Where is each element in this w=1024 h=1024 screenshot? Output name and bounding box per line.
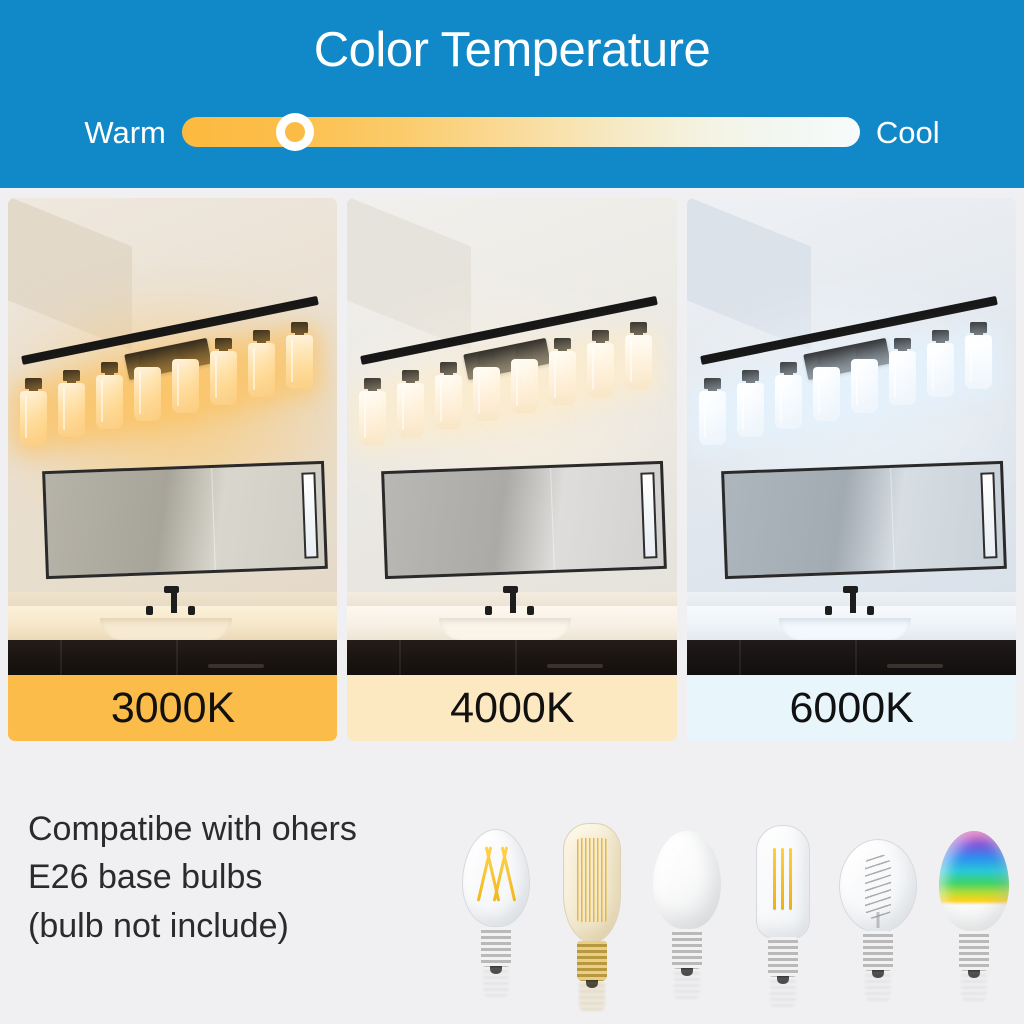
a19-clear-filament-bulb-icon	[452, 783, 540, 1013]
slider-knob-handle[interactable]	[276, 113, 314, 151]
bathroom-scene-photo-warm	[8, 198, 337, 675]
framed-mirror	[381, 461, 667, 579]
compat-line-3: (bulb not include)	[28, 902, 448, 950]
undermount-sink	[439, 618, 571, 640]
slider-knob-center	[285, 122, 305, 142]
mirror-seam	[550, 468, 555, 570]
compat-line-1: Compatibe with ohers	[28, 805, 448, 853]
vanity-light-fixture	[14, 310, 336, 438]
mirror-window-reflection	[641, 472, 658, 558]
temperature-panel-3000k[interactable]: 3000K	[8, 198, 337, 741]
mirror-window-reflection	[980, 472, 997, 558]
temperature-caption-3000k: 3000K	[8, 675, 337, 741]
black-faucet	[837, 586, 859, 614]
compatible-bulbs-row	[452, 763, 1018, 1013]
t45-tubular-filament-bulb-icon	[739, 783, 827, 1013]
black-faucet	[497, 586, 519, 614]
color-temperature-header: Color Temperature Warm Cool	[0, 0, 1024, 188]
compat-line-2: E26 base bulbs	[28, 853, 448, 901]
slider-label-cool: Cool	[876, 117, 940, 148]
vanity-cabinet	[687, 640, 1016, 675]
framed-mirror	[721, 461, 1007, 579]
vanity-light-fixture	[353, 310, 675, 438]
vanity-cabinet	[347, 640, 676, 675]
rgb-color-changing-smart-bulb-icon	[930, 783, 1018, 1013]
slider-track-wrap[interactable]	[182, 117, 860, 147]
st64-edison-vintage-bulb-icon	[548, 783, 636, 1013]
a19-frosted-led-bulb-icon	[643, 783, 731, 1013]
slider-label-warm: Warm	[84, 117, 166, 148]
mirror-seam	[211, 468, 216, 570]
mirror-seam	[889, 468, 894, 570]
compatibility-text: Compatibe with ohers E26 base bulbs (bul…	[28, 805, 448, 950]
caption-value: 3000K	[111, 687, 235, 730]
temperature-comparison-panels: 3000K	[8, 198, 1016, 741]
framed-mirror	[42, 461, 328, 579]
mirror-window-reflection	[301, 472, 318, 558]
temperature-panel-6000k[interactable]: 6000K	[687, 198, 1016, 741]
temperature-caption-6000k: 6000K	[687, 675, 1016, 741]
vanity-cabinet	[8, 640, 337, 675]
black-faucet	[158, 586, 180, 614]
undermount-sink	[100, 618, 232, 640]
caption-value: 4000K	[450, 687, 574, 730]
caption-value: 6000K	[789, 687, 913, 730]
temperature-panel-4000k[interactable]: 4000K	[347, 198, 676, 741]
bathroom-scene-photo-cool	[687, 198, 1016, 675]
compatibility-section: Compatibe with ohers E26 base bulbs (bul…	[0, 741, 1024, 1024]
temperature-caption-4000k: 4000K	[347, 675, 676, 741]
temperature-slider[interactable]: Warm Cool	[0, 108, 1024, 156]
bathroom-scene-photo-neutral	[347, 198, 676, 675]
undermount-sink	[779, 618, 911, 640]
vanity-light-fixture	[693, 310, 1015, 438]
g25-globe-spiral-filament-bulb-icon	[834, 783, 922, 1013]
page-title: Color Temperature	[0, 26, 1024, 75]
